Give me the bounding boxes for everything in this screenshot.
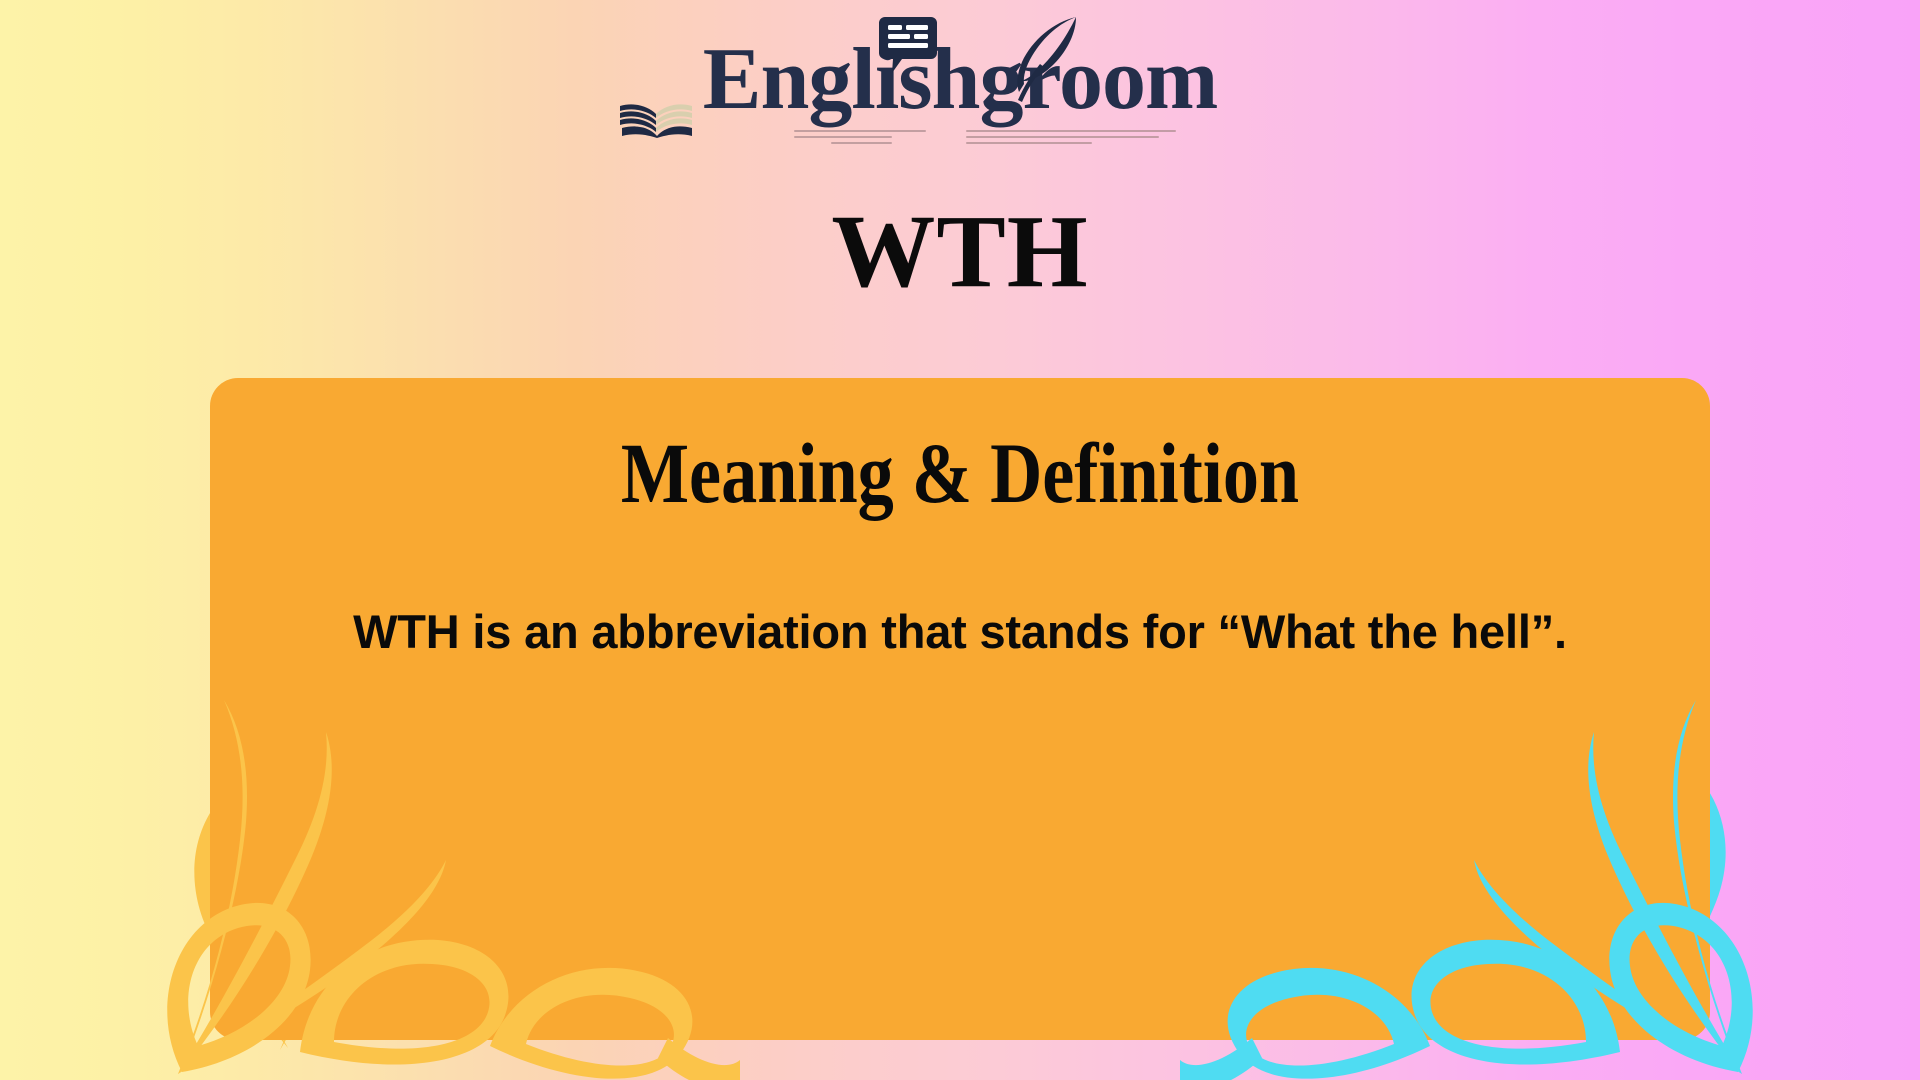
logo-underline-left — [794, 130, 926, 152]
logo-underline-right — [966, 130, 1176, 152]
site-logo[interactable]: Englishgroom — [0, 14, 1920, 164]
brand-name: Englishgroom — [610, 36, 1310, 124]
poster-canvas: Meaning & Definition WTH is an abbreviat… — [0, 0, 1920, 1080]
chat-bubble-icon — [878, 16, 938, 74]
page-title: WTH — [0, 200, 1920, 304]
card-definition-text: WTH is an abbreviation that stands for “… — [330, 600, 1590, 663]
card-heading: Meaning & Definition — [330, 428, 1590, 518]
feather-quill-icon — [1010, 14, 1082, 102]
definition-card: Meaning & Definition WTH is an abbreviat… — [210, 378, 1710, 1040]
open-book-icon — [618, 92, 696, 138]
